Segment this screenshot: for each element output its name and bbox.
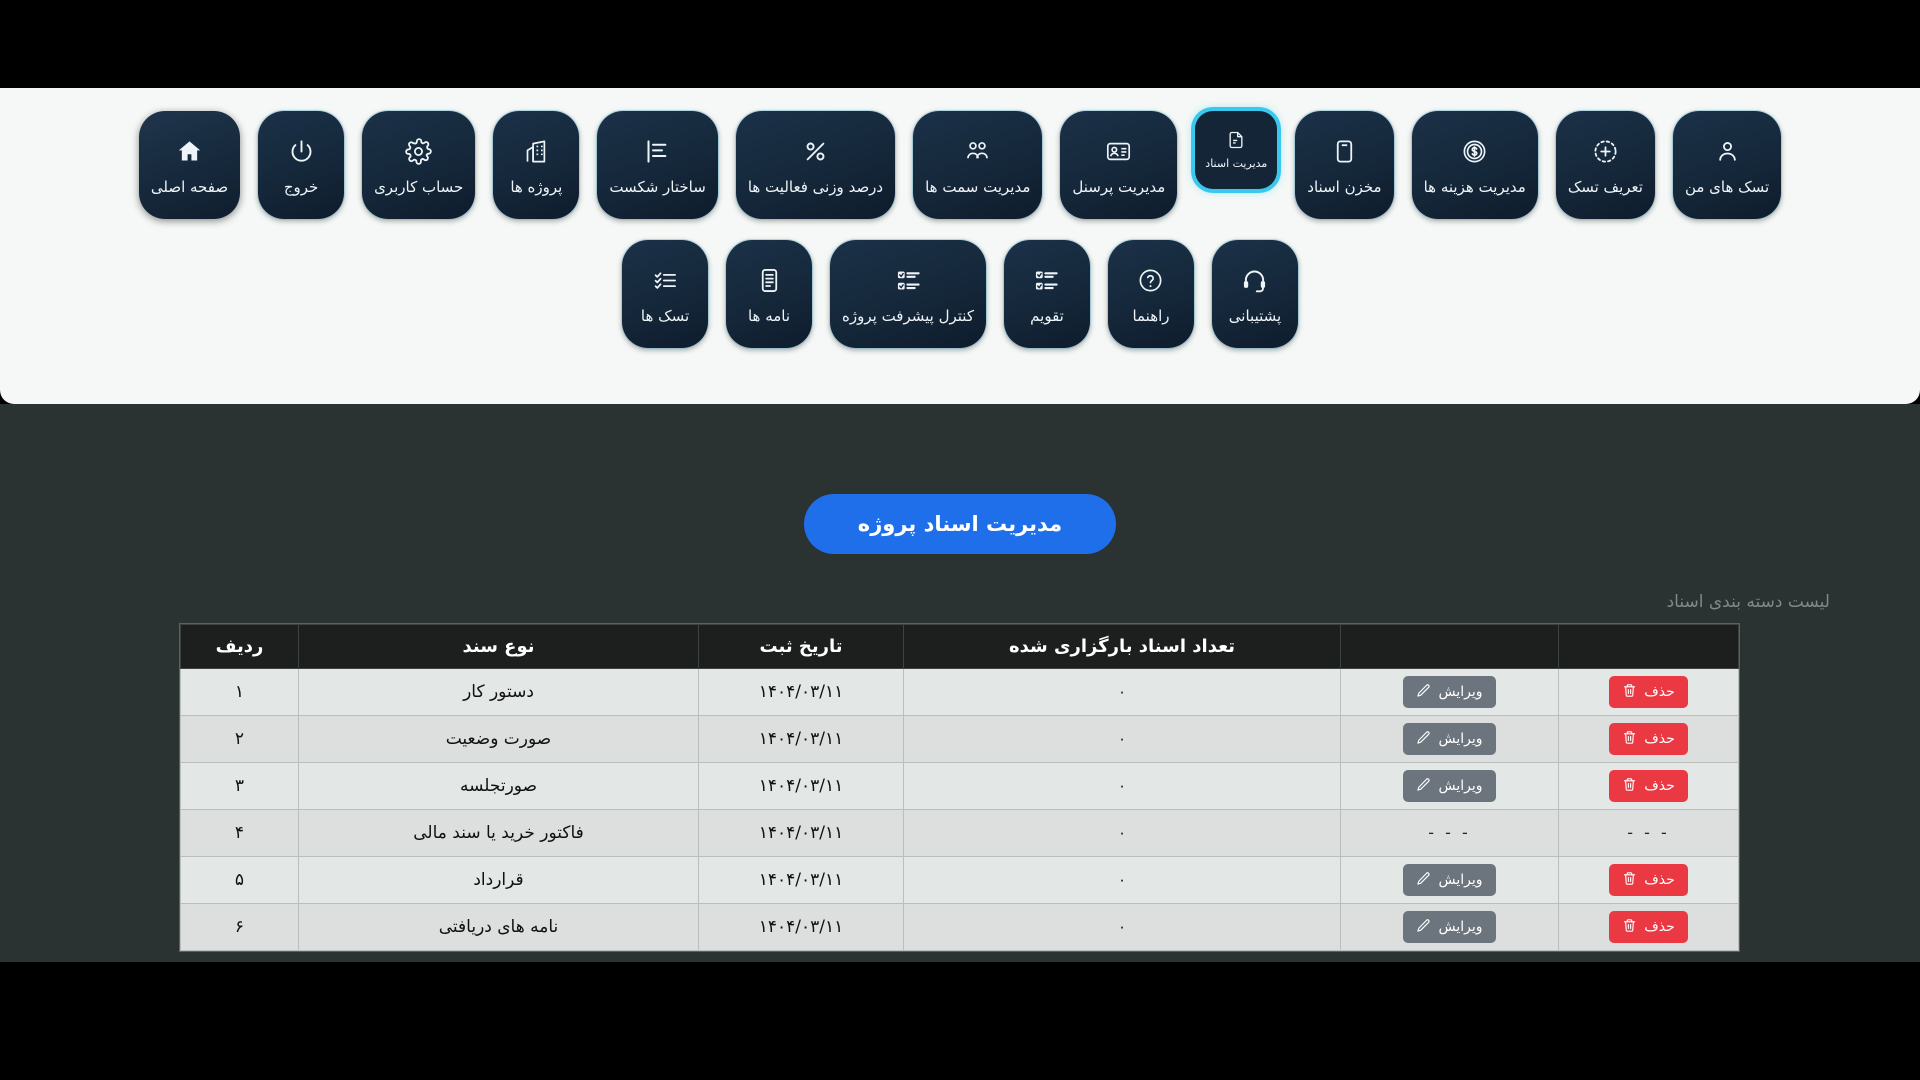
nav-button-9[interactable]: مخزن اسناد [1295, 111, 1393, 219]
cell-document-type: فاکتور خرید یا سند مالی [299, 810, 699, 857]
edit-button[interactable]: ویرایش [1403, 723, 1495, 755]
checkbox-list-icon [893, 266, 923, 296]
nav-button-1[interactable]: خروج [258, 111, 344, 219]
nav-button-label: ساختار شکست [609, 179, 705, 196]
plus-dashed-circle-icon [1590, 137, 1620, 167]
trash-icon [1622, 730, 1637, 748]
nav-button-0[interactable]: تسک ها [622, 240, 708, 348]
main-navigation-panel: صفحه اصلیخروجحساب کاربریپروژه هاساختار ش… [0, 88, 1920, 404]
nav-button-label: درصد وزنی فعالیت ها [748, 179, 883, 196]
nav-button-8[interactable]: مدیریت اسناد [1195, 111, 1277, 189]
trash-icon [1622, 777, 1637, 795]
cell-uploaded-count: ۰ [904, 810, 1341, 857]
cell-edit: ویرایش [1341, 904, 1559, 951]
edit-button[interactable]: ویرایش [1403, 770, 1495, 802]
nav-button-label: حساب کاربری [374, 179, 463, 196]
cell-row-number: ۶ [181, 904, 299, 951]
nav-button-label: خروج [284, 179, 318, 196]
pencil-icon [1416, 730, 1431, 748]
nav-button-4[interactable]: راهنما [1108, 240, 1194, 348]
cell-edit: - - - [1341, 810, 1559, 857]
edit-button[interactable]: ویرایش [1403, 864, 1495, 896]
document-manage-icon [1225, 129, 1247, 151]
archive-box-icon [1329, 137, 1359, 167]
nav-button-label: صفحه اصلی [151, 179, 228, 196]
nav-button-label: مدیریت سمت ها [925, 179, 1030, 196]
percent-icon [800, 137, 830, 167]
power-icon [286, 137, 316, 167]
table-row: - - -- - -۰۱۴۰۴/۰۳/۱۱فاکتور خرید یا سند … [181, 810, 1739, 857]
nav-button-label: مخزن اسناد [1307, 179, 1381, 196]
nav-button-5[interactable]: درصد وزنی فعالیت ها [736, 111, 895, 219]
cell-document-type: قرارداد [299, 857, 699, 904]
cell-edit: ویرایش [1341, 716, 1559, 763]
cell-register-date: ۱۴۰۴/۰۳/۱۱ [699, 669, 904, 716]
delete-button[interactable]: حذف [1609, 864, 1688, 896]
checklist-lines-icon [650, 266, 680, 296]
top-letterbox [0, 0, 1920, 88]
nav-row-secondary: تسک هانامه هاکنترل پیشرفت پروژهتقویمراهن… [0, 219, 1920, 348]
table-header-row-no: ردیف [181, 625, 299, 669]
table-header-date: تاریخ ثبت [699, 625, 904, 669]
cell-delete: حذف [1559, 716, 1739, 763]
cell-edit: ویرایش [1341, 669, 1559, 716]
delete-button[interactable]: حذف [1609, 770, 1688, 802]
main-content-area: مدیریت اسناد پروژه لیست دسته بندی اسناد … [0, 404, 1920, 962]
cell-edit: ویرایش [1341, 857, 1559, 904]
cell-document-type: دستور کار [299, 669, 699, 716]
nav-button-12[interactable]: تسک های من [1673, 111, 1781, 219]
page-title-wrap: مدیریت اسناد پروژه [0, 404, 1920, 554]
table-row: حذفویرایش۰۱۴۰۴/۰۳/۱۱قرارداد۵ [181, 857, 1739, 904]
nav-button-label: تعریف تسک [1568, 179, 1643, 196]
page-title[interactable]: مدیریت اسناد پروژه [804, 494, 1116, 554]
documents-table: تعداد اسناد بارگزاری شده تاریخ ثبت نوع س… [180, 624, 1739, 951]
building-chart-icon [521, 137, 551, 167]
nav-button-3[interactable]: پروژه ها [493, 111, 579, 219]
cell-row-number: ۴ [181, 810, 299, 857]
pencil-icon [1416, 918, 1431, 936]
table-body: حذفویرایش۰۱۴۰۴/۰۳/۱۱دستور کار۱حذفویرایش۰… [181, 669, 1739, 951]
cell-delete: حذف [1559, 763, 1739, 810]
cell-uploaded-count: ۰ [904, 857, 1341, 904]
cell-delete: حذف [1559, 669, 1739, 716]
trash-icon [1622, 871, 1637, 889]
nav-button-label: نامه ها [748, 308, 790, 325]
edit-button-label: ویرایش [1438, 732, 1482, 746]
nav-button-2[interactable]: حساب کاربری [362, 111, 475, 219]
nav-button-label: پشتیبانی [1229, 308, 1281, 325]
nav-button-3[interactable]: تقویم [1004, 240, 1090, 348]
cell-edit: ویرایش [1341, 763, 1559, 810]
edit-button[interactable]: ویرایش [1403, 911, 1495, 943]
delete-button-label: حذف [1644, 920, 1675, 934]
dollar-circle-icon [1460, 137, 1490, 167]
breakdown-structure-icon [643, 137, 673, 167]
table-row: حذفویرایش۰۱۴۰۴/۰۳/۱۱صورتجلسه۳ [181, 763, 1739, 810]
cell-register-date: ۱۴۰۴/۰۳/۱۱ [699, 810, 904, 857]
cell-register-date: ۱۴۰۴/۰۳/۱۱ [699, 716, 904, 763]
nav-button-5[interactable]: پشتیبانی [1212, 240, 1298, 348]
table-header-row: تعداد اسناد بارگزاری شده تاریخ ثبت نوع س… [181, 625, 1739, 669]
table-header-count: تعداد اسناد بارگزاری شده [904, 625, 1341, 669]
nav-button-6[interactable]: مدیریت سمت ها [913, 111, 1042, 219]
delete-button-label: حذف [1644, 732, 1675, 746]
delete-button[interactable]: حذف [1609, 723, 1688, 755]
cell-uploaded-count: ۰ [904, 669, 1341, 716]
cell-register-date: ۱۴۰۴/۰۳/۱۱ [699, 904, 904, 951]
cell-document-type: نامه های دریافتی [299, 904, 699, 951]
nav-button-label: مدیریت پرسنل [1072, 179, 1165, 196]
cell-document-type: صورتجلسه [299, 763, 699, 810]
pencil-icon [1416, 871, 1431, 889]
id-card-icon [1104, 137, 1134, 167]
edit-button-label: ویرایش [1438, 685, 1482, 699]
edit-button-label: ویرایش [1438, 779, 1482, 793]
empty-action: - - - [1428, 823, 1471, 842]
delete-button-label: حذف [1644, 873, 1675, 887]
documents-table-wrap: تعداد اسناد بارگزاری شده تاریخ ثبت نوع س… [181, 624, 1739, 951]
cell-uploaded-count: ۰ [904, 904, 1341, 951]
nav-button-label: مدیریت هزینه ها [1424, 179, 1526, 196]
cell-document-type: صورت وضعیت [299, 716, 699, 763]
cell-register-date: ۱۴۰۴/۰۳/۱۱ [699, 857, 904, 904]
user-person-icon [1712, 137, 1742, 167]
pencil-icon [1416, 683, 1431, 701]
cell-delete: - - - [1559, 810, 1739, 857]
edit-button[interactable]: ویرایش [1403, 676, 1495, 708]
nav-button-0[interactable]: صفحه اصلی [139, 111, 240, 219]
cell-row-number: ۵ [181, 857, 299, 904]
cell-row-number: ۳ [181, 763, 299, 810]
table-header-type: نوع سند [299, 625, 699, 669]
cell-register-date: ۱۴۰۴/۰۳/۱۱ [699, 763, 904, 810]
nav-button-label: راهنما [1132, 308, 1169, 325]
delete-button[interactable]: حذف [1609, 911, 1688, 943]
section-caption: لیست دسته بندی اسناد [90, 592, 1830, 612]
nav-button-2[interactable]: کنترل پیشرفت پروژه [830, 240, 986, 348]
table-header-edit [1341, 625, 1559, 669]
cell-row-number: ۲ [181, 716, 299, 763]
app-screen: صفحه اصلیخروجحساب کاربریپروژه هاساختار ش… [0, 0, 1920, 1080]
nav-button-4[interactable]: ساختار شکست [597, 111, 717, 219]
checkbox-list-icon [1032, 266, 1062, 296]
gear-icon [404, 137, 434, 167]
nav-button-7[interactable]: مدیریت پرسنل [1060, 111, 1177, 219]
table-row: حذفویرایش۰۱۴۰۴/۰۳/۱۱دستور کار۱ [181, 669, 1739, 716]
delete-button-label: حذف [1644, 779, 1675, 793]
pencil-icon [1416, 777, 1431, 795]
delete-button-label: حذف [1644, 685, 1675, 699]
trash-icon [1622, 918, 1637, 936]
nav-button-label: کنترل پیشرفت پروژه [842, 308, 974, 325]
edit-button-label: ویرایش [1438, 873, 1482, 887]
nav-button-label: تسک ها [641, 308, 689, 325]
edit-button-label: ویرایش [1438, 920, 1482, 934]
nav-button-10[interactable]: مدیریت هزینه ها [1412, 111, 1538, 219]
cell-uploaded-count: ۰ [904, 763, 1341, 810]
delete-button[interactable]: حذف [1609, 676, 1688, 708]
nav-button-label: تسک های من [1685, 179, 1769, 196]
table-header-delete [1559, 625, 1739, 669]
nav-button-label: تقویم [1030, 308, 1064, 325]
cell-delete: حذف [1559, 904, 1739, 951]
cell-delete: حذف [1559, 857, 1739, 904]
headset-icon [1240, 266, 1270, 296]
table-row: حذفویرایش۰۱۴۰۴/۰۳/۱۱نامه های دریافتی۶ [181, 904, 1739, 951]
table-row: حذفویرایش۰۱۴۰۴/۰۳/۱۱صورت وضعیت۲ [181, 716, 1739, 763]
question-circle-icon [1136, 266, 1166, 296]
bottom-letterbox [0, 962, 1920, 1080]
letter-document-icon [754, 266, 784, 296]
nav-button-11[interactable]: تعریف تسک [1556, 111, 1655, 219]
nav-button-label: مدیریت اسناد [1205, 158, 1267, 170]
nav-button-label: پروژه ها [510, 179, 562, 196]
trash-icon [1622, 683, 1637, 701]
nav-row-primary: صفحه اصلیخروجحساب کاربریپروژه هاساختار ش… [0, 88, 1920, 219]
empty-action: - - - [1627, 823, 1670, 842]
users-group-icon [963, 137, 993, 167]
cell-uploaded-count: ۰ [904, 716, 1341, 763]
cell-row-number: ۱ [181, 669, 299, 716]
home-icon [174, 137, 204, 167]
nav-button-1[interactable]: نامه ها [726, 240, 812, 348]
table-head: تعداد اسناد بارگزاری شده تاریخ ثبت نوع س… [181, 625, 1739, 669]
